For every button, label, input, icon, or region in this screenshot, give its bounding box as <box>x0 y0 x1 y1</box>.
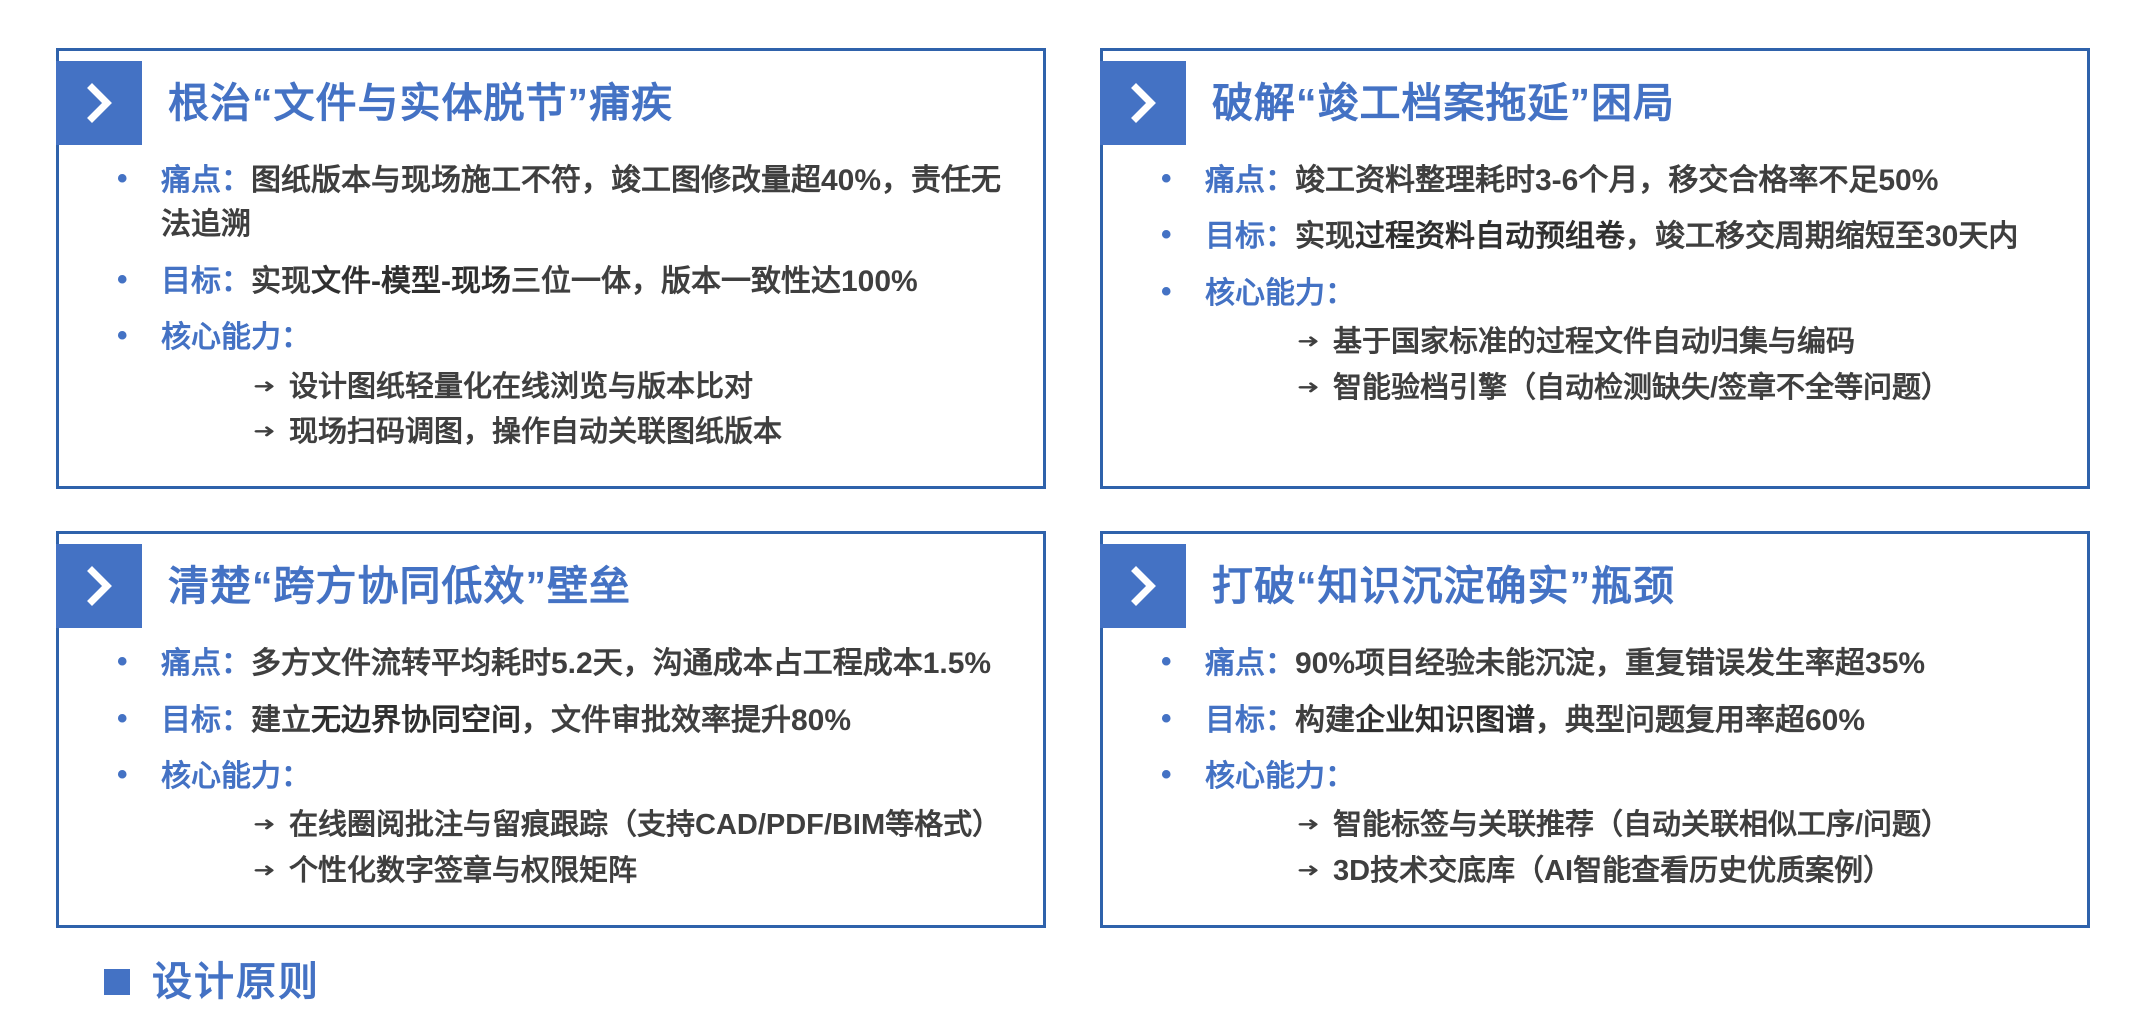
chevron-right-icon <box>56 544 142 628</box>
section-heading-label: 设计原则 <box>152 962 320 1002</box>
bullet-list: 痛点：图纸版本与现场施工不符，竣工图修改量超40%，责任无法追溯 目标：实现文件… <box>59 159 1043 456</box>
pain-point-card-2[interactable]: 破解“竣工档案拖延”困局 痛点：竣工资料整理耗时3-6个月，移交合格率不足50%… <box>1100 48 2090 489</box>
bullet-capability: 核心能力： 在线圈阅批注与留痕跟踪（支持CAD/PDF/BIM等格式） 个性化数… <box>95 755 1013 895</box>
bullet-text: 多方文件流转平均耗时5.2天，沟通成本占工程成本1.5% <box>251 647 991 680</box>
pain-point-card-4[interactable]: 打破“知识沉淀确实”瓶颈 痛点：90%项目经验未能沉淀，重复错误发生率超35% … <box>1100 531 2090 928</box>
bullet-label: 痛点： <box>161 647 251 680</box>
card-grid: 根治“文件与实体脱节”痡疾 痛点：图纸版本与现场施工不符，竣工图修改量超40%，… <box>56 48 2090 928</box>
bullet-label: 痛点： <box>1205 647 1295 680</box>
bullet-label: 核心能力： <box>1205 760 1355 793</box>
bullet-pain: 痛点：图纸版本与现场施工不符，竣工图修改量超40%，责任无法追溯 <box>95 159 1013 248</box>
bullet-emphasis: 过程资料自动预组卷 <box>1355 220 1625 253</box>
bullet-label: 核心能力： <box>1205 277 1355 310</box>
bullet-goal: 目标：实现文件-模型-现场三位一体，版本一致性达100% <box>95 260 1013 304</box>
card-title: 根治“文件与实体脱节”痡疾 <box>168 83 673 124</box>
bullet-label: 核心能力： <box>161 321 311 354</box>
capability-item: 现场扫码调图，操作自动关联图纸版本 <box>161 410 1013 456</box>
bullet-text: 图纸版本与现场施工不符，竣工图修改量超40%，责任无法追溯 <box>161 164 1001 241</box>
chevron-right-icon <box>1100 544 1186 628</box>
chevron-right-icon <box>56 61 142 145</box>
square-marker-icon <box>104 969 130 995</box>
card-header: 打破“知识沉淀确实”瓶颈 <box>1103 544 2087 628</box>
capability-item: 智能验档引擎（自动检测缺失/签章不全等问题） <box>1205 366 2057 412</box>
card-header: 破解“竣工档案拖延”困局 <box>1103 61 2087 145</box>
bullet-text: 竣工资料整理耗时3-6个月，移交合格率不足50% <box>1295 164 1938 197</box>
bullet-capability: 核心能力： 设计图纸轻量化在线浏览与版本比对 现场扫码调图，操作自动关联图纸版本 <box>95 316 1013 456</box>
capability-list: 智能标签与关联推荐（自动关联相似工序/问题） 3D技术交底库（AI智能查看历史优… <box>1205 803 2057 895</box>
capability-item: 个性化数字签章与权限矩阵 <box>161 849 1013 895</box>
bullet-goal: 目标：构建企业知识图谱，典型问题复用率超60% <box>1139 699 2057 743</box>
card-header: 清楚“跨方协同低效”壁垒 <box>59 544 1043 628</box>
card-header: 根治“文件与实体脱节”痡疾 <box>59 61 1043 145</box>
bullet-text: 实现文件-模型-现场三位一体，版本一致性达100% <box>251 265 918 298</box>
bullet-list: 痛点：竣工资料整理耗时3-6个月，移交合格率不足50% 目标：实现过程资料自动预… <box>1103 159 2087 412</box>
card-title: 破解“竣工档案拖延”困局 <box>1212 83 1675 124</box>
bullet-text: 90%项目经验未能沉淀，重复错误发生率超35% <box>1295 647 1925 680</box>
capability-item: 设计图纸轻量化在线浏览与版本比对 <box>161 365 1013 411</box>
card-title: 清楚“跨方协同低效”壁垒 <box>168 566 631 607</box>
bullet-pain: 痛点：90%项目经验未能沉淀，重复错误发生率超35% <box>1139 642 2057 686</box>
pain-point-card-1[interactable]: 根治“文件与实体脱节”痡疾 痛点：图纸版本与现场施工不符，竣工图修改量超40%，… <box>56 48 1046 489</box>
chevron-right-icon <box>1100 61 1186 145</box>
capability-item: 在线圈阅批注与留痕跟踪（支持CAD/PDF/BIM等格式） <box>161 803 1013 849</box>
bullet-capability: 核心能力： 基于国家标准的过程文件自动归集与编码 智能验档引擎（自动检测缺失/签… <box>1139 272 2057 412</box>
card-title: 打破“知识沉淀确实”瓶颈 <box>1212 566 1675 607</box>
bullet-pain: 痛点：竣工资料整理耗时3-6个月，移交合格率不足50% <box>1139 159 2057 203</box>
capability-list: 设计图纸轻量化在线浏览与版本比对 现场扫码调图，操作自动关联图纸版本 <box>161 365 1013 457</box>
bullet-emphasis: 企业知识图谱 <box>1355 704 1535 737</box>
bullet-label: 痛点： <box>161 164 251 197</box>
bullet-list: 痛点：90%项目经验未能沉淀，重复错误发生率超35% 目标：构建企业知识图谱，典… <box>1103 642 2087 895</box>
bullet-goal: 目标：实现过程资料自动预组卷，竣工移交周期缩短至30天内 <box>1139 215 2057 259</box>
bullet-pain: 痛点：多方文件流转平均耗时5.2天，沟通成本占工程成本1.5% <box>95 642 1013 686</box>
bullet-text: 建立无边界协同空间，文件审批效率提升80% <box>251 704 851 737</box>
bullet-capability: 核心能力： 智能标签与关联推荐（自动关联相似工序/问题） 3D技术交底库（AI智… <box>1139 755 2057 895</box>
bullet-emphasis: 文件-模型-现场 <box>311 265 511 298</box>
pain-point-card-3[interactable]: 清楚“跨方协同低效”壁垒 痛点：多方文件流转平均耗时5.2天，沟通成本占工程成本… <box>56 531 1046 928</box>
capability-item: 智能标签与关联推荐（自动关联相似工序/问题） <box>1205 803 2057 849</box>
bullet-text: 构建企业知识图谱，典型问题复用率超60% <box>1295 704 1865 737</box>
capability-list: 在线圈阅批注与留痕跟踪（支持CAD/PDF/BIM等格式） 个性化数字签章与权限… <box>161 803 1013 895</box>
bullet-goal: 目标：建立无边界协同空间，文件审批效率提升80% <box>95 699 1013 743</box>
bullet-list: 痛点：多方文件流转平均耗时5.2天，沟通成本占工程成本1.5% 目标：建立无边界… <box>59 642 1043 895</box>
capability-list: 基于国家标准的过程文件自动归集与编码 智能验档引擎（自动检测缺失/签章不全等问题… <box>1205 320 2057 412</box>
bullet-label: 目标： <box>1205 704 1295 737</box>
bullet-label: 痛点： <box>1205 164 1295 197</box>
section-heading: 设计原则 <box>104 962 320 1002</box>
bullet-text: 实现过程资料自动预组卷，竣工移交周期缩短至30天内 <box>1295 220 2018 253</box>
bullet-emphasis: 无边界协同空间 <box>311 704 521 737</box>
bullet-label: 核心能力： <box>161 760 311 793</box>
slide-canvas: 根治“文件与实体脱节”痡疾 痛点：图纸版本与现场施工不符，竣工图修改量超40%，… <box>0 0 2146 1030</box>
bullet-label: 目标： <box>1205 220 1295 253</box>
capability-item: 基于国家标准的过程文件自动归集与编码 <box>1205 320 2057 366</box>
capability-item: 3D技术交底库（AI智能查看历史优质案例） <box>1205 849 2057 895</box>
bullet-label: 目标： <box>161 704 251 737</box>
bullet-label: 目标： <box>161 265 251 298</box>
